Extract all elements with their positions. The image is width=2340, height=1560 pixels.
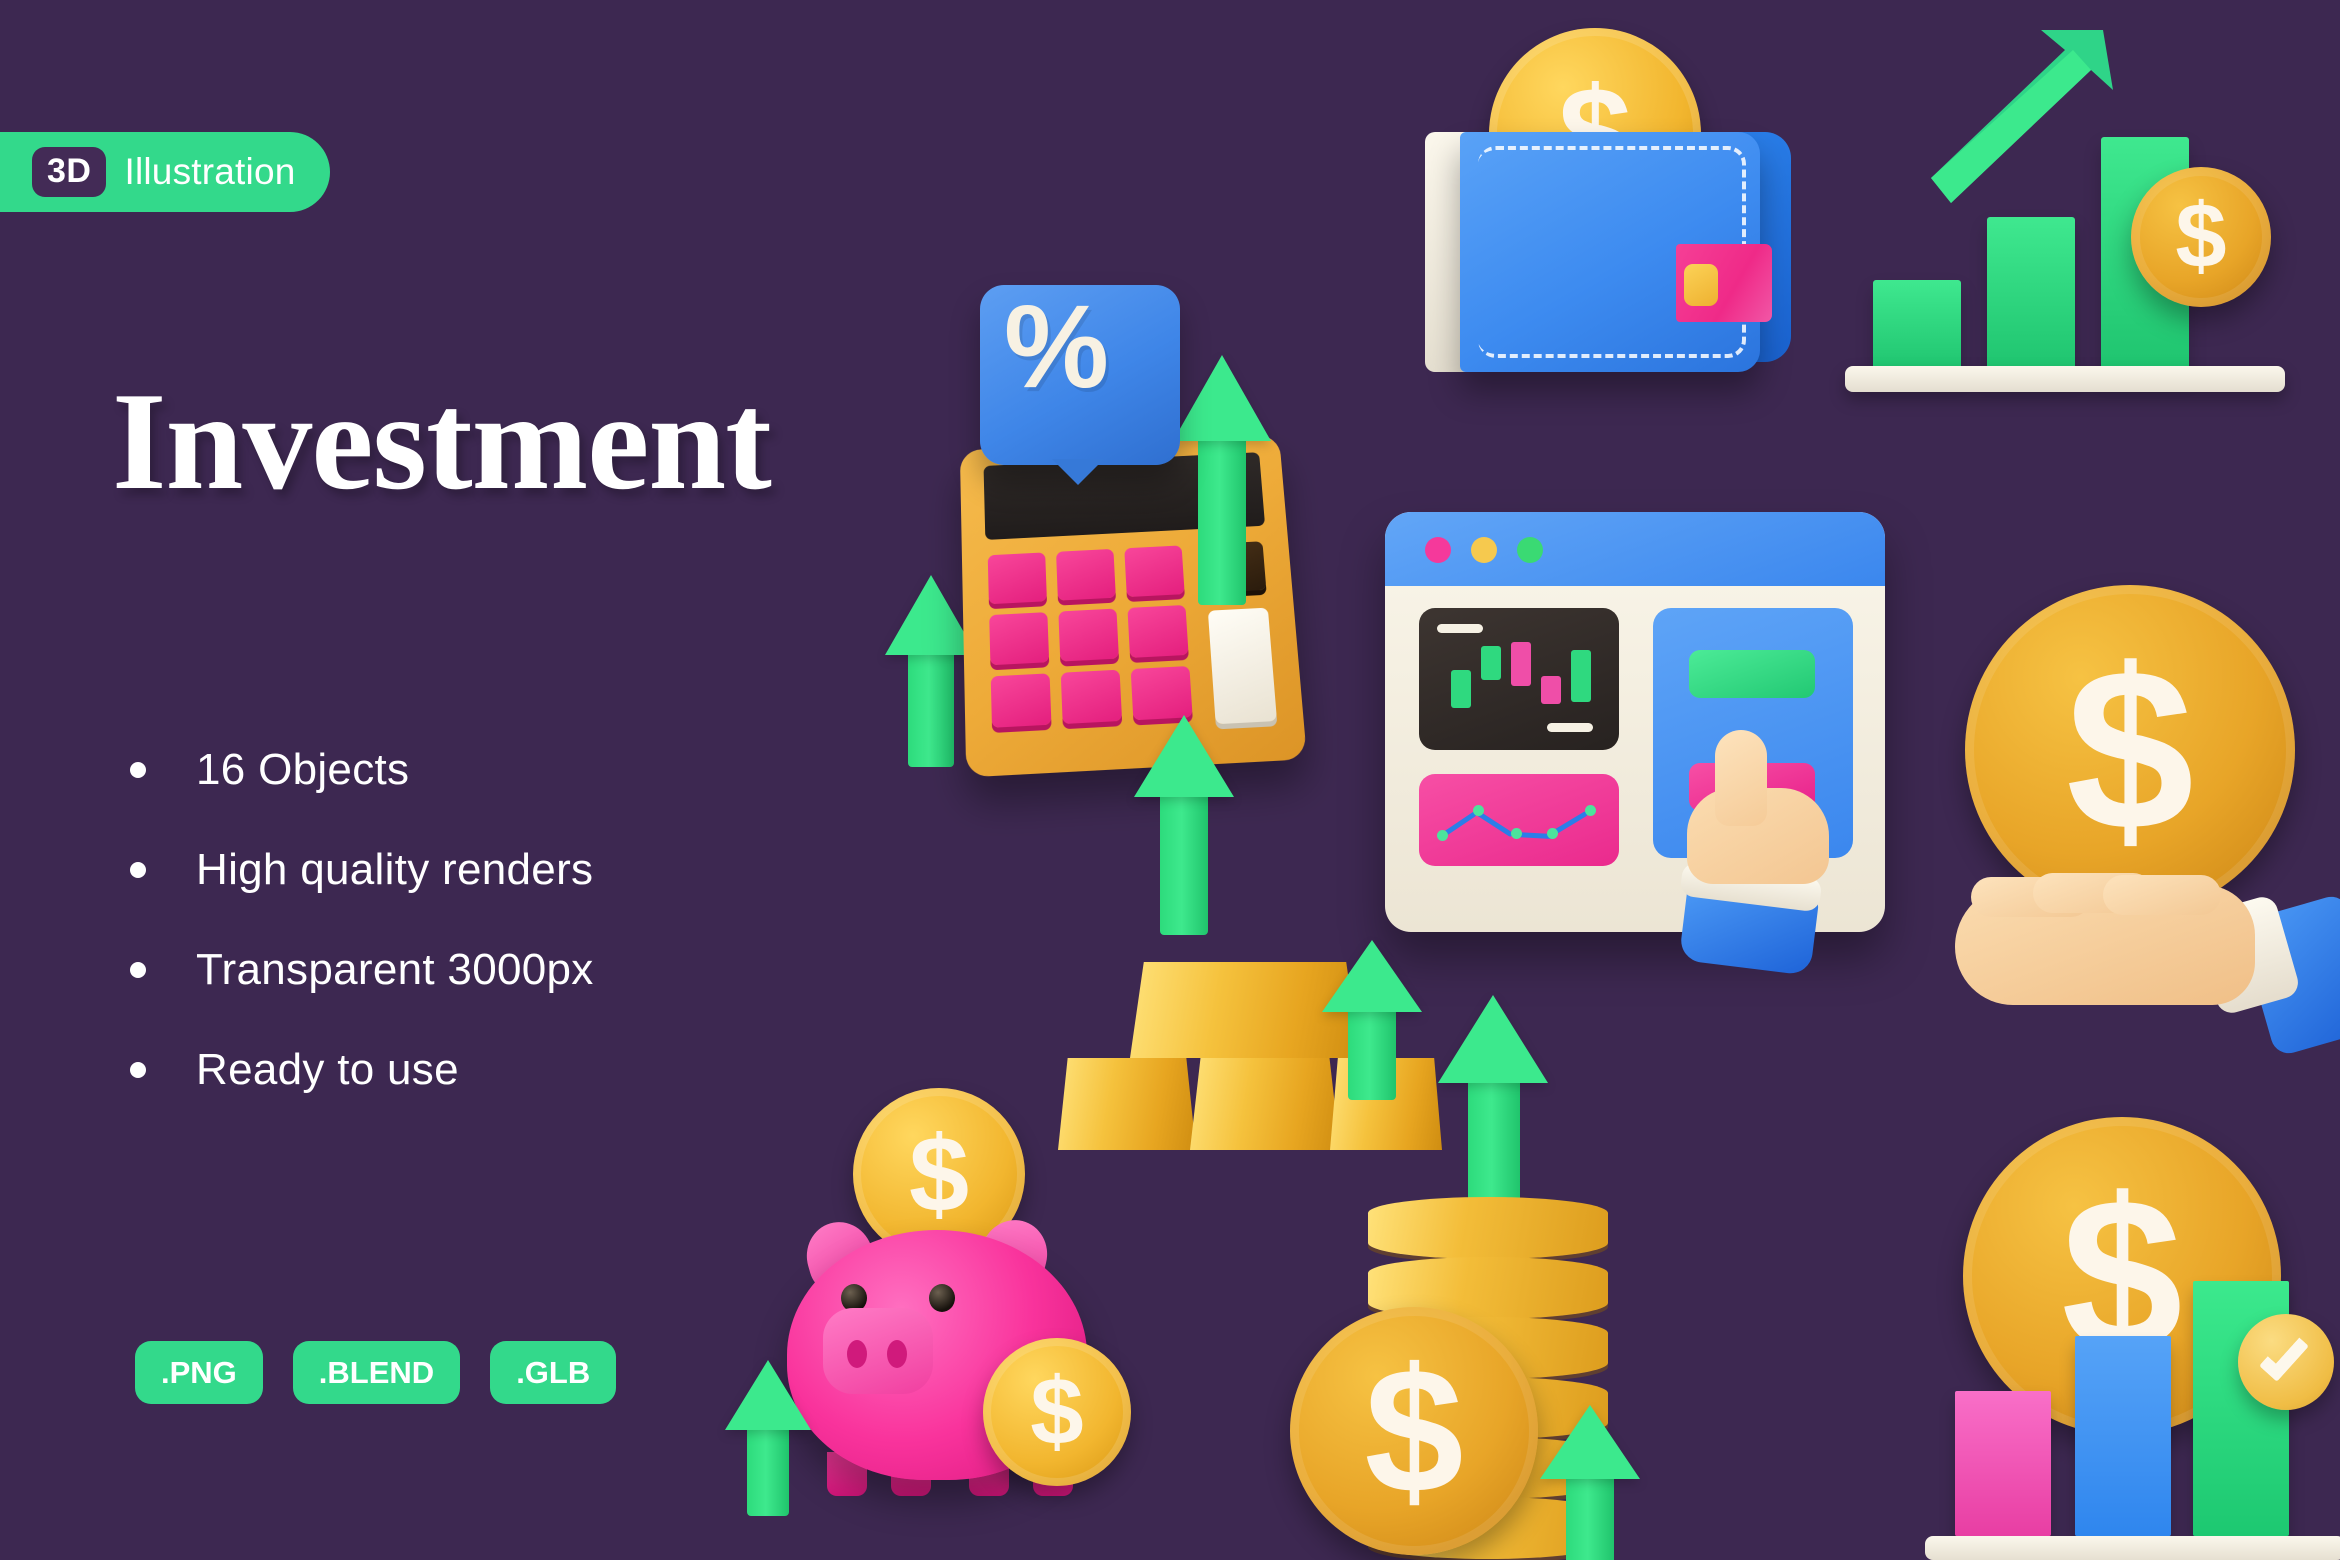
wallet-clasp bbox=[1684, 264, 1718, 306]
chart-baseline bbox=[1925, 1536, 2340, 1560]
3d-illustration-badge: 3D Illustration bbox=[0, 132, 330, 212]
page-title: Investment bbox=[112, 372, 771, 512]
chart-label-bar bbox=[1437, 624, 1483, 633]
piggy-nostril bbox=[887, 1340, 907, 1368]
data-point bbox=[1547, 828, 1558, 839]
calculator-key bbox=[1056, 549, 1116, 601]
percent-symbol: % bbox=[1004, 279, 1109, 415]
candlestick bbox=[1451, 670, 1471, 708]
format-tag-blend: .BLEND bbox=[293, 1341, 460, 1404]
arrow-up-icon bbox=[1540, 1405, 1640, 1560]
piggy-bank-illustration: $ $ bbox=[745, 1080, 1145, 1560]
data-point bbox=[1511, 828, 1522, 839]
chart-label-bar bbox=[1547, 723, 1593, 732]
verified-check-icon bbox=[2238, 1314, 2334, 1410]
gold-bars-illustration bbox=[1030, 840, 1450, 1150]
arrow-up-icon bbox=[1438, 995, 1548, 1225]
bar bbox=[1873, 280, 1961, 372]
coin-icon: $ bbox=[2131, 167, 2271, 307]
calculator-keypad bbox=[988, 545, 1193, 727]
window-maximize-dot[interactable] bbox=[1517, 537, 1543, 563]
format-tag-glb: .GLB bbox=[490, 1341, 616, 1404]
dollar-symbol: $ bbox=[1365, 1346, 1464, 1515]
calculator-key bbox=[989, 612, 1049, 665]
file-format-tags: .PNG .BLEND .GLB bbox=[135, 1341, 616, 1404]
check-glyph bbox=[2259, 1330, 2309, 1382]
trend-arrow-icon bbox=[1923, 28, 2113, 218]
candlestick bbox=[1571, 650, 1591, 702]
calculator-key bbox=[1127, 605, 1188, 658]
calculator-illustration: % bbox=[905, 285, 1325, 775]
coin-disc bbox=[1368, 1197, 1608, 1259]
calculator-key bbox=[1131, 666, 1193, 720]
list-item: 16 Objects bbox=[130, 720, 594, 820]
list-item: High quality renders bbox=[130, 820, 594, 920]
window-title-bar bbox=[1385, 512, 1885, 586]
index-finger bbox=[1715, 730, 1767, 826]
calculator-key bbox=[1058, 609, 1119, 662]
gold-bar bbox=[1058, 1058, 1196, 1150]
arrow-up-icon bbox=[1322, 940, 1422, 1100]
calculator-key bbox=[991, 673, 1052, 727]
bar bbox=[1955, 1391, 2051, 1536]
arrow-up-icon bbox=[1173, 355, 1271, 605]
badge-3d-tag: 3D bbox=[32, 147, 106, 197]
dollar-symbol: $ bbox=[909, 1123, 969, 1226]
pointing-hand-icon bbox=[1669, 730, 1859, 930]
calculator-key bbox=[988, 552, 1047, 604]
candlestick bbox=[1541, 676, 1561, 704]
candlestick bbox=[1481, 646, 1501, 680]
buy-button[interactable] bbox=[1689, 650, 1815, 698]
data-point bbox=[1585, 805, 1596, 816]
window-close-dot[interactable] bbox=[1425, 537, 1451, 563]
candlestick bbox=[1511, 642, 1531, 686]
wallet-strap bbox=[1676, 244, 1772, 322]
feature-label: 16 Objects bbox=[196, 745, 409, 795]
feature-label: High quality renders bbox=[196, 845, 593, 895]
chart-baseline bbox=[1845, 366, 2285, 392]
feature-label: Ready to use bbox=[196, 1045, 459, 1095]
coin-icon: $ bbox=[983, 1338, 1131, 1486]
list-item: Transparent 3000px bbox=[130, 920, 594, 1020]
calculator-key bbox=[1061, 670, 1122, 724]
bullet-icon bbox=[130, 1062, 146, 1078]
piggy-nostril bbox=[847, 1340, 867, 1368]
arrow-up-icon bbox=[1134, 715, 1234, 935]
candlestick-chart-panel bbox=[1419, 608, 1619, 750]
coin-icon: $ bbox=[1965, 585, 2295, 915]
window-minimize-dot[interactable] bbox=[1471, 537, 1497, 563]
finger bbox=[2103, 875, 2221, 915]
data-point bbox=[1473, 805, 1484, 816]
calculator-key-enter bbox=[1208, 608, 1277, 725]
percent-speech-bubble: % bbox=[980, 285, 1180, 465]
bullet-icon bbox=[130, 762, 146, 778]
wallet-front bbox=[1460, 132, 1760, 372]
feature-list: 16 Objects High quality renders Transpar… bbox=[130, 720, 594, 1120]
format-tag-png: .PNG bbox=[135, 1341, 263, 1404]
poster-canvas: 3D Illustration Investment 16 Objects Hi… bbox=[0, 0, 2340, 1560]
badge-label: Illustration bbox=[124, 151, 295, 193]
list-item: Ready to use bbox=[130, 1020, 594, 1120]
dollar-symbol: $ bbox=[1030, 1366, 1083, 1457]
growth-bar-chart-illustration: $ bbox=[1845, 20, 2315, 420]
bar bbox=[1987, 217, 2075, 372]
bullet-icon bbox=[130, 962, 146, 978]
gold-bar bbox=[1190, 1058, 1340, 1150]
bar bbox=[2075, 1336, 2171, 1536]
dollar-symbol: $ bbox=[2175, 193, 2226, 280]
coin-icon: $ bbox=[1290, 1307, 1538, 1555]
coin-stack-illustration: $ bbox=[1290, 1155, 1710, 1560]
bullet-icon bbox=[130, 862, 146, 878]
dollar-symbol: $ bbox=[2066, 641, 2194, 860]
feature-label: Transparent 3000px bbox=[196, 945, 594, 995]
hand-holding-coin-illustration: $ bbox=[1955, 585, 2340, 1055]
trading-dashboard-illustration bbox=[1385, 512, 1885, 932]
arrow-up-icon bbox=[725, 1360, 811, 1516]
wallet-illustration: $ bbox=[1405, 20, 1825, 420]
verified-bar-chart-illustration: $ bbox=[1925, 1125, 2340, 1560]
piggy-eye bbox=[929, 1284, 955, 1312]
piggy-snout bbox=[823, 1308, 933, 1394]
